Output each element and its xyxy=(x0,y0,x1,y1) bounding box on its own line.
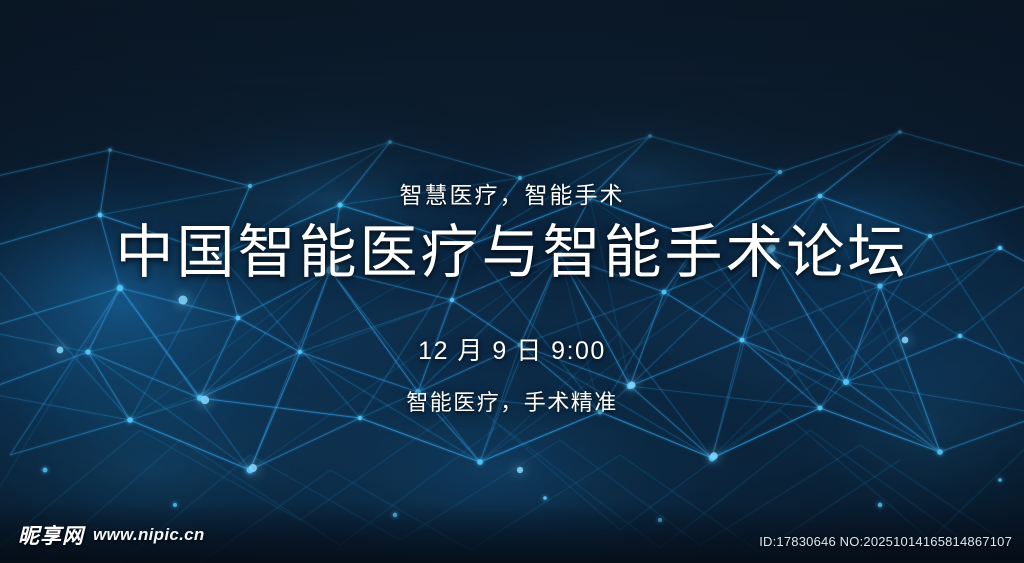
poster-event-time: 12 月 9 日 9:00 xyxy=(418,331,606,367)
watermark-url: www.nipic.cn xyxy=(93,525,205,545)
poster-subtitle: 智慧医疗，智能手术 xyxy=(400,176,625,210)
watermark: 昵享网 www.nipic.cn xyxy=(18,520,205,550)
image-id-label: ID:17830646 NO:20251014165814867107 xyxy=(759,534,1012,549)
poster-canvas: 智慧医疗，智能手术 中国智能医疗与智能手术论坛 12 月 9 日 9:00 智能… xyxy=(0,0,1024,563)
poster-main-title: 中国智能医疗与智能手术论坛 xyxy=(115,222,908,285)
nipic-logo: 昵享网 xyxy=(18,520,84,550)
poster-tagline: 智能医疗，手术精准 xyxy=(406,385,618,417)
poster-content: 智慧医疗，智能手术 中国智能医疗与智能手术论坛 12 月 9 日 9:00 智能… xyxy=(0,0,1024,563)
